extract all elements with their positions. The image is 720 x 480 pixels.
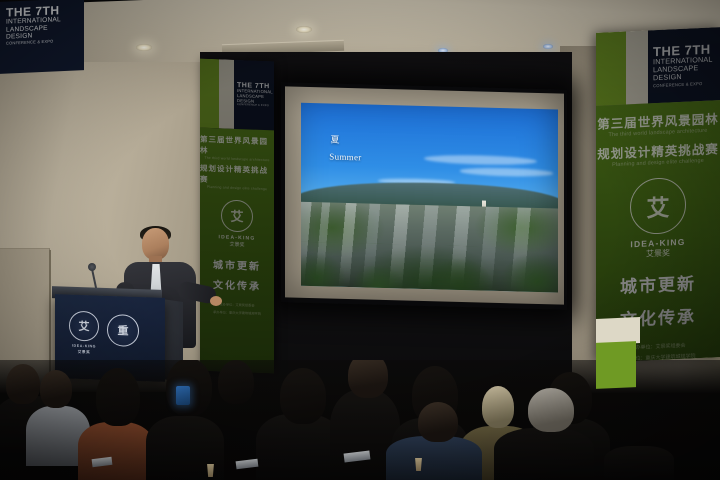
podium-crest-idea-king-icon: 艾 <box>69 311 99 342</box>
audience-member <box>386 436 482 480</box>
banner-right: THE 7TH INTERNATIONAL LANDSCAPE DESIGN C… <box>596 27 720 363</box>
ceiling-spotlight-icon <box>296 26 312 33</box>
banner-left-body: 第三届世界风景园林 The third world landscape arch… <box>200 127 274 373</box>
banner-cream-square <box>626 30 648 104</box>
banner-cream-square <box>219 59 234 128</box>
ceiling-spotlight-icon <box>136 44 152 51</box>
podium-crest-caption-cn: 艾景奖 <box>67 349 101 355</box>
slide-title-english: Summer <box>329 152 361 163</box>
banner-left: THE 7TH INTERNATIONAL LANDSCAPE DESIGN C… <box>200 59 274 374</box>
banner-right-header: THE 7TH INTERNATIONAL LANDSCAPE DESIGN C… <box>596 27 720 105</box>
podium-crest-caption-en: IDEA-KING <box>67 343 101 348</box>
presentation-slide: 夏 Summer <box>301 103 558 293</box>
banner-logo-cn: 艾景奖 <box>646 247 670 259</box>
microphone-icon <box>88 263 96 271</box>
ceiling-blue-spotlight-icon <box>543 44 553 49</box>
audience-head <box>528 388 574 432</box>
cloud-shape <box>460 167 553 177</box>
audience-head <box>280 368 326 424</box>
audience-member <box>604 446 674 480</box>
projection-screen: 夏 Summer <box>281 82 567 309</box>
banner-green-square <box>200 59 219 128</box>
banner-left-header: THE 7TH INTERNATIONAL LANDSCAPE DESIGN C… <box>200 59 274 130</box>
audience-head <box>40 370 72 408</box>
banner-left-title-block: THE 7TH INTERNATIONAL LANDSCAPE DESIGN C… <box>234 60 274 130</box>
banner-logo: 艾 IDEA-KING 艾景奖 <box>219 199 256 248</box>
audience-member <box>78 422 154 480</box>
podium-crest-university-icon: 重 <box>107 314 139 347</box>
banner-title-conference: CONFERENCE & EXPO <box>237 103 274 107</box>
banner-logo-cn: 艾景奖 <box>229 240 244 248</box>
banner-lower-green-square <box>596 341 636 389</box>
banner-right-title-block: THE 7TH INTERNATIONAL LANDSCAPE DESIGN C… <box>648 27 720 103</box>
foreground-trees <box>301 242 558 293</box>
audience-head <box>96 368 140 426</box>
banner-organizer-1: 主办单位：艾景奖组委会 <box>219 301 254 307</box>
banner-logo: 艾 IDEA-KING 艾景奖 <box>630 176 686 260</box>
banner-cn-headline-1: 第三届世界风景园林 <box>200 133 274 158</box>
phone-screen-glow <box>176 386 190 405</box>
banner-green-square <box>596 31 626 105</box>
audience-head <box>482 386 514 428</box>
handout-paper <box>236 459 259 470</box>
cloud-shape <box>424 154 537 166</box>
idea-king-crest-icon: 艾 <box>630 176 686 235</box>
banner-slogan-1: 城市更新 <box>213 256 261 273</box>
audience-head <box>348 360 388 398</box>
conference-hall-scene: 夏 Summer THE 7TH INTERNATIONAL LANDSCAPE… <box>0 0 720 480</box>
banner-lower-right: THE 7TH INTERNATIONAL LANDSCAPE DESIGN C… <box>0 0 84 74</box>
banner-slogan-1: 城市更新 <box>620 269 696 297</box>
audience-head <box>218 360 254 404</box>
audience-head <box>418 402 458 442</box>
slide-title-chinese: 夏 <box>331 133 341 146</box>
idea-king-crest-icon: 艾 <box>221 199 253 232</box>
audience-member <box>494 428 594 480</box>
audience-head <box>6 364 40 404</box>
banner-slogan-2: 文化传承 <box>213 276 261 293</box>
projection-screen-surface: 夏 Summer <box>285 86 564 304</box>
speaker-hand <box>210 296 222 306</box>
banner-cn-headline-2: 规划设计精英挑战赛 <box>200 162 274 187</box>
banner-organizer-2: 承办单位：重庆大学建筑城规学院 <box>213 309 261 316</box>
